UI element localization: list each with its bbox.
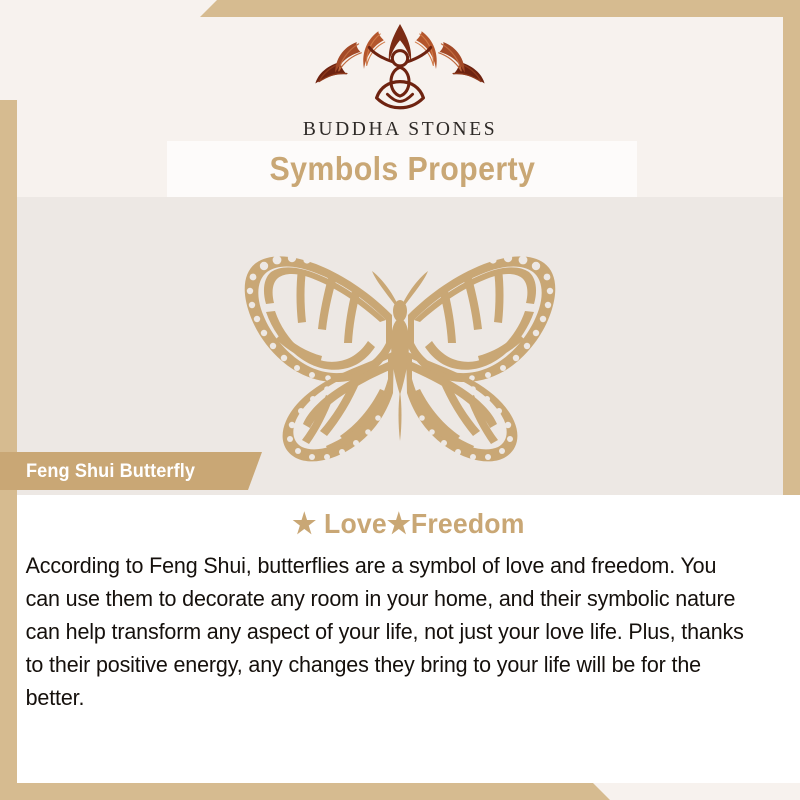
lotus-meditation-figure-icon [310, 22, 490, 117]
frame-left-band [0, 100, 17, 800]
category-tag-label: Feng Shui Butterfly [26, 460, 195, 483]
butterfly-icon [220, 219, 580, 469]
infographic-poster: BUDDHA STONES Symbols Property [0, 0, 800, 800]
brand-logo: BUDDHA STONES [17, 22, 783, 141]
description-paragraph: According to Feng Shui, butterflies are … [17, 540, 765, 714]
frame-bottom-band [0, 783, 610, 800]
tagline: ★ Love★Freedom [37, 495, 781, 540]
illustration-panel [17, 197, 783, 495]
frame-top-band [200, 0, 800, 17]
brand-name: BUDDHA STONES [303, 119, 497, 141]
page-title: Symbols Property [269, 150, 535, 188]
description-card: ★ Love★Freedom According to Feng Shui, b… [17, 495, 800, 783]
title-banner: Symbols Property [167, 141, 637, 197]
category-tag: Feng Shui Butterfly [0, 452, 262, 490]
